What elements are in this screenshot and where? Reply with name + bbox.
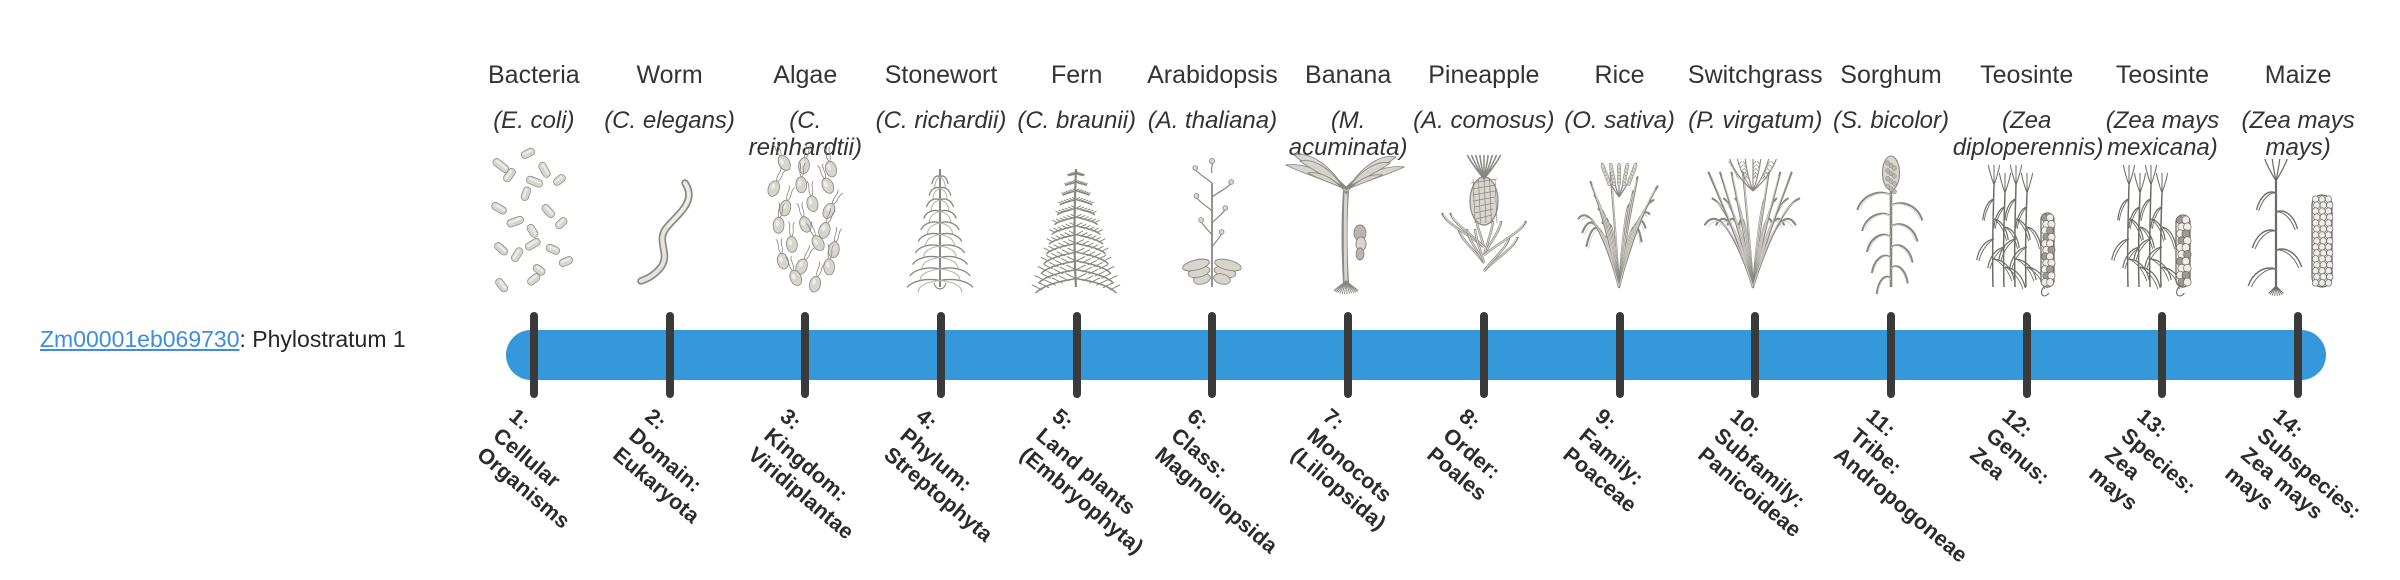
nematode-worm-icon <box>602 170 738 295</box>
species-common-name: Bacteria <box>466 62 602 90</box>
phylostratum-tick[interactable] <box>801 312 809 398</box>
species-scientific-name: (Zea diploperennis) <box>1953 108 2101 162</box>
phylostratum-value: Phylostratum 1 <box>252 326 405 352</box>
species-common-name: Stonewort <box>873 62 1009 90</box>
species-common-name: Teosinte <box>1959 62 2095 90</box>
banana-plant-icon <box>1280 170 1416 295</box>
species-column: Sorghum(S. bicolor)11:Tribe:Andropogonea… <box>1823 0 1959 580</box>
species-scientific-name: (Zea mays mexicana) <box>2088 108 2236 162</box>
species-common-name: Fern <box>1009 62 1145 90</box>
phylostratum-tick[interactable] <box>2023 312 2031 398</box>
species-scientific-name: (S. bicolor) <box>1817 108 1965 135</box>
phylostratum-tick[interactable] <box>2158 312 2166 398</box>
species-common-name: Banana <box>1280 62 1416 90</box>
phylostratum-tick[interactable] <box>530 312 538 398</box>
species-columns: Bacteria(E. coli) <box>466 0 2366 580</box>
phylostratum-tick[interactable] <box>1751 312 1759 398</box>
teosinte-mexicana-icon <box>2094 170 2230 295</box>
phylostratum-tick[interactable] <box>1073 312 1081 398</box>
species-common-name: Teosinte <box>2094 62 2230 90</box>
switchgrass-icon <box>1687 170 1823 295</box>
species-common-name: Sorghum <box>1823 62 1959 90</box>
species-scientific-name: (C. richardii) <box>867 108 1015 135</box>
species-scientific-name: (C. braunii) <box>1003 108 1151 135</box>
species-scientific-name: (O. sativa) <box>1546 108 1694 135</box>
fern-frond-icon <box>1009 170 1145 295</box>
phylostratum-tick[interactable] <box>1480 312 1488 398</box>
phylostratum-label: 14:Subspecies:Zea maysmays <box>2220 404 2400 580</box>
phylostratum-tick[interactable] <box>937 312 945 398</box>
species-column: Fern(C. braunii)5:Land plants(Embryophyt… <box>1009 0 1145 580</box>
teosinte-diploperennis-icon <box>1959 170 2095 295</box>
species-common-name: Maize <box>2230 62 2366 90</box>
phylostratum-tick[interactable] <box>2294 312 2302 398</box>
species-column: Switchgrass(P. virgatum)10:Subfamily:Pan… <box>1687 0 1823 580</box>
species-column: Stonewort(C. richardii)4:Phylum:Streptop… <box>873 0 1009 580</box>
rice-plant-icon <box>1552 170 1688 295</box>
phylostratum-chart: Zm00001eb069730: Phylostratum 1 Bacteria… <box>0 0 2400 580</box>
stonewort-icon <box>873 170 1009 295</box>
sorghum-plant-icon <box>1823 170 1959 295</box>
algae-cells-icon <box>737 170 873 295</box>
phylostratum-tick[interactable] <box>1887 312 1895 398</box>
species-column: Worm(C. elegans) 2:Domain:Eukaryota <box>602 0 738 580</box>
species-scientific-name: (A. thaliana) <box>1138 108 1286 135</box>
phylostratum-tick[interactable] <box>666 312 674 398</box>
gene-row-label: Zm00001eb069730: Phylostratum 1 <box>40 326 460 353</box>
label-separator: : <box>240 326 253 352</box>
species-column: Algae(C. reinhardtii) <box>737 0 873 580</box>
phylostratum-tick[interactable] <box>1208 312 1216 398</box>
species-column: Rice(O. sativa)9:Family:Poaceae <box>1552 0 1688 580</box>
gene-id-link[interactable]: Zm00001eb069730 <box>40 326 240 352</box>
species-column: Teosinte(Zea mays mexicana) 13:Species:Z… <box>2094 0 2230 580</box>
phylostratum-tick[interactable] <box>1616 312 1624 398</box>
species-column: Banana(M. acuminata) <box>1280 0 1416 580</box>
phylostratum-tick[interactable] <box>1344 312 1352 398</box>
species-column: Pineapple(A. comosus)8:Order:Poales <box>1416 0 1552 580</box>
species-column: Maize(Zea mays mays) 14:Subspecies:Zea m… <box>2230 0 2366 580</box>
species-scientific-name: (A. comosus) <box>1410 108 1558 135</box>
species-common-name: Algae <box>737 62 873 90</box>
bacteria-rods-icon <box>466 170 602 295</box>
species-column: Arabidopsis(A. thaliana) 6:Class:Magnoli… <box>1144 0 1280 580</box>
species-common-name: Worm <box>602 62 738 90</box>
arabidopsis-rosette-icon <box>1144 170 1280 295</box>
species-common-name: Rice <box>1552 62 1688 90</box>
maize-plant-ear-icon <box>2230 170 2366 295</box>
species-column: Bacteria(E. coli) <box>466 0 602 580</box>
species-common-name: Pineapple <box>1416 62 1552 90</box>
species-scientific-name: (E. coli) <box>460 108 608 135</box>
species-scientific-name: (C. elegans) <box>596 108 744 135</box>
species-scientific-name: (P. virgatum) <box>1681 108 1829 135</box>
species-scientific-name: (Zea mays mays) <box>2224 108 2372 162</box>
species-column: Teosinte(Zea diploperennis) 12:Genus:Zea <box>1959 0 2095 580</box>
species-common-name: Arabidopsis <box>1144 62 1280 90</box>
pineapple-plant-icon <box>1416 170 1552 295</box>
species-common-name: Switchgrass <box>1687 62 1823 90</box>
